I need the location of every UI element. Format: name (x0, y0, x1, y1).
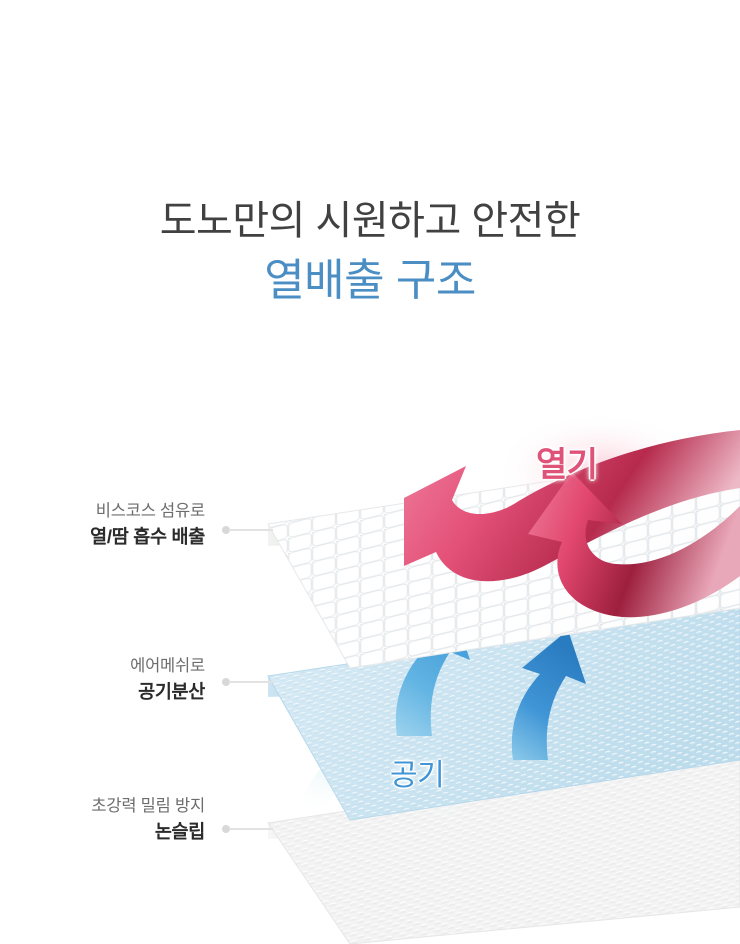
promo-page: 도노만의 시원하고 안전한 열배출 구조 (0, 0, 740, 944)
label-non-slip: 초강력 밀림 방지 논슬립 (20, 795, 205, 845)
leader-stroke (229, 828, 273, 830)
label-air-mesh: 에어메쉬로 공기분산 (20, 655, 205, 705)
leader-line-air-mesh (222, 676, 270, 688)
label-air-mesh-caption: 에어메쉬로 (20, 655, 205, 677)
label-non-slip-title: 논슬립 (20, 820, 205, 845)
callout-air: 공기 (390, 750, 444, 794)
leader-line-non-slip (222, 823, 270, 835)
label-viscose-caption: 비스코스 섬유로 (20, 500, 205, 522)
label-viscose: 비스코스 섬유로 열/땀 흡수 배출 (20, 500, 205, 550)
leader-stroke (229, 681, 273, 683)
label-air-mesh-title: 공기분산 (20, 680, 205, 705)
callout-heat: 열기 (536, 437, 598, 486)
label-non-slip-caption: 초강력 밀림 방지 (20, 795, 205, 817)
leader-line-viscose (222, 524, 270, 536)
label-viscose-title: 열/땀 흡수 배출 (20, 525, 205, 550)
leader-stroke (229, 529, 273, 531)
